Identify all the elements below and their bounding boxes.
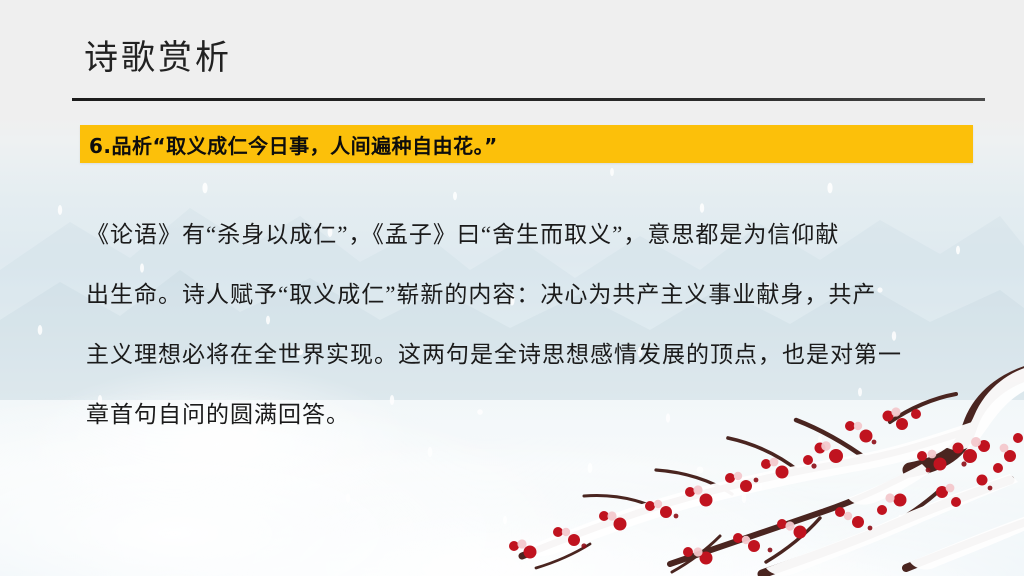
body-line: 章首句自问的圆满回答。 [86,385,966,445]
page-title: 诗歌赏析 [84,38,232,81]
body-line: 出生命。诗人赋予“取义成仁”崭新的内容：决心为共产主义事业献身，共产 [86,265,966,325]
presentation-slide: 诗歌赏析 6.品析“取义成仁今日事，人间遍种自由花。” 《论语》有“杀身以成仁”… [0,0,1024,576]
question-banner-text: 6.品析“取义成仁今日事，人间遍种自由花。” [80,130,498,159]
title-underline-divider [72,98,985,101]
question-banner: 6.品析“取义成仁今日事，人间遍种自由花。” [80,125,973,163]
body-line: 《论语》有“杀身以成仁”，《孟子》曰“舍生而取义”，意思都是为信仰献 [86,205,966,265]
body-paragraph: 《论语》有“杀身以成仁”，《孟子》曰“舍生而取义”，意思都是为信仰献 出生命。诗… [86,205,966,445]
body-line: 主义理想必将在全世界实现。这两句是全诗思想感情发展的顶点，也是对第一 [86,325,966,385]
